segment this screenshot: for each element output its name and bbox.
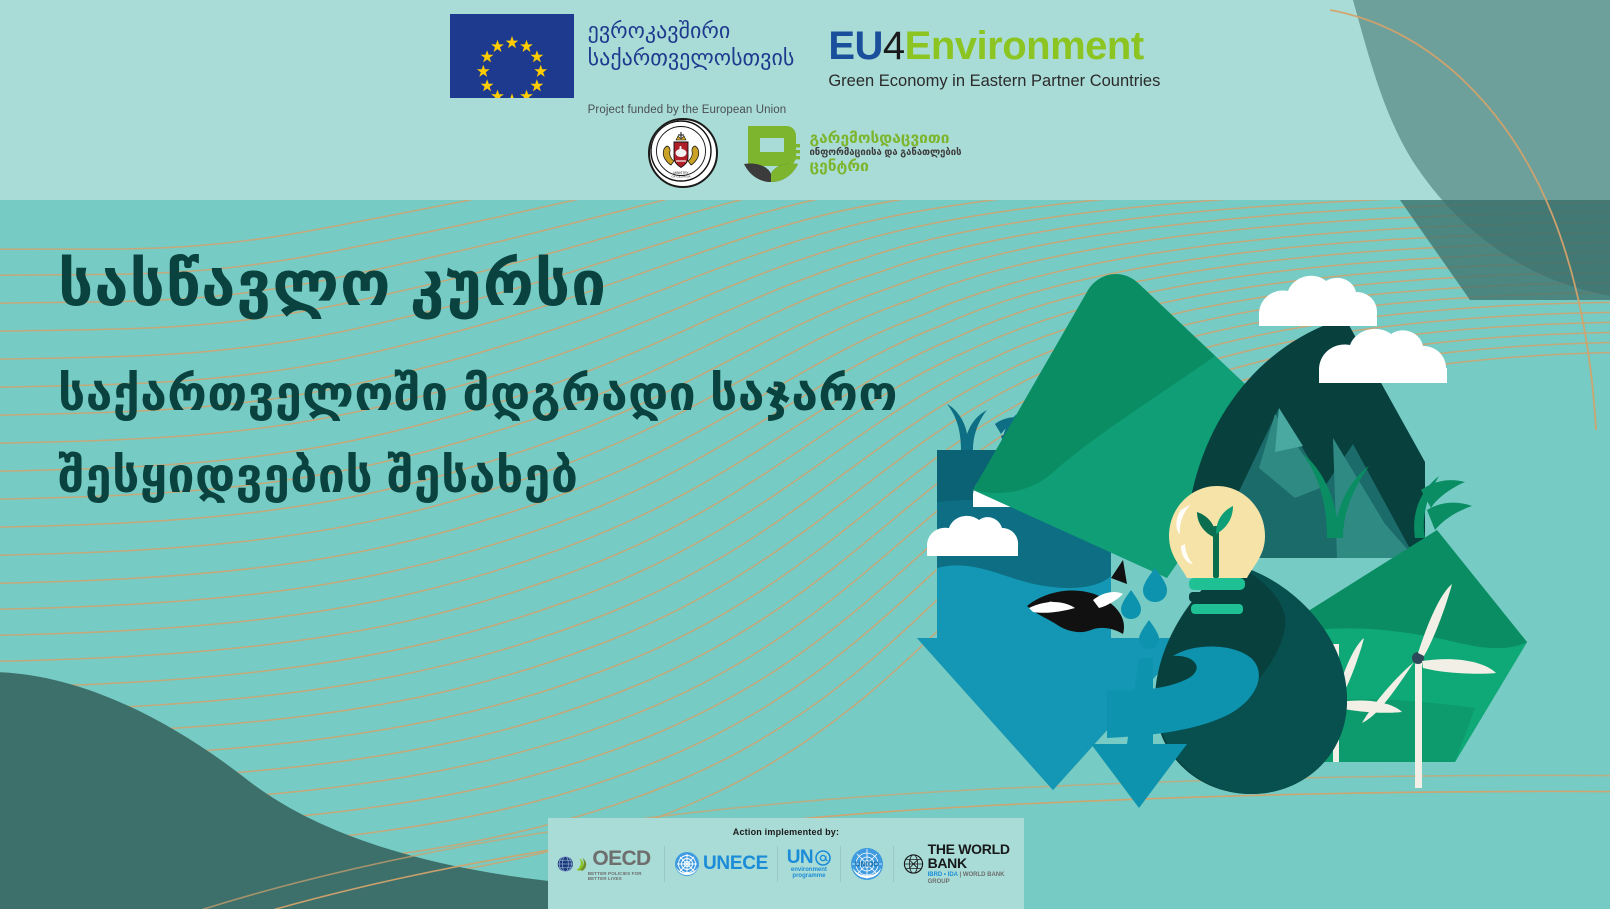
- oecd-tagline: BETTER POLICIES FOR BETTER LIVES: [588, 871, 656, 881]
- e4e-environment-text: Environment: [905, 24, 1144, 68]
- page-subtitle-line1: საქართველოში მდგრადი საჯარო: [58, 361, 898, 429]
- title-block: სასწავლო კურსი საქართველოში მდგრადი საჯა…: [58, 252, 898, 511]
- oecd-globe-icon: [557, 853, 574, 875]
- footer-partners-bar: Action implemented by: OECD BETTER POLIC…: [548, 818, 1024, 909]
- environmental-centre-logo: გარემოსდაცვითი ინფორმაციისა და განათლები…: [740, 122, 961, 184]
- svg-text:OF GEORGIA: OF GEORGIA: [672, 175, 691, 179]
- header: ევროკავშირი საქართველოსთვის Project fund…: [0, 0, 1610, 200]
- ecc-line2: ინფორმაციისა და განათლების: [809, 148, 961, 158]
- e4e-tagline: Green Economy in Eastern Partner Countri…: [828, 72, 1160, 91]
- page-subtitle-line2: შესყიდვების შესახებ: [58, 443, 898, 511]
- eu-flag-icon: [450, 14, 574, 98]
- eu-geo-line2: საქართველოსთვის: [588, 45, 795, 72]
- eu-geo-text: ევროკავშირი საქართველოსთვის: [588, 14, 795, 72]
- oecd-swoosh-icon: [575, 854, 587, 874]
- at-symbol-icon: [815, 850, 831, 866]
- footer-caption: Action implemented by:: [733, 827, 839, 837]
- e4e-eu-text: EU: [828, 24, 883, 68]
- un-environment-sub2: programme: [792, 873, 825, 879]
- government-logo-row: MINISTRY OF GEORGIA გა: [0, 118, 1610, 188]
- e4e-four-text: 4: [883, 24, 905, 68]
- un-environment-logo: UN environment programme: [778, 842, 840, 886]
- world-bank-globe-icon: [903, 849, 924, 879]
- eu4environment-logo: EU4Environment Green Economy in Eastern …: [828, 14, 1160, 91]
- oecd-wordmark: OECD: [592, 848, 650, 869]
- water-droplet-icon: [1121, 568, 1167, 649]
- unido-logo: UNIDO: [841, 842, 893, 886]
- ecc-line3: ცენტრი: [809, 159, 961, 175]
- eu-geo-line1: ევროკავშირი: [588, 18, 795, 45]
- unece-wordmark: UNECE: [703, 853, 768, 875]
- primary-logo-row: ევროკავშირი საქართველოსთვის Project fund…: [0, 14, 1610, 116]
- environmental-centre-icon: [740, 122, 802, 184]
- world-bank-ibrd: IBRD • IDA: [928, 872, 958, 878]
- georgia-coat-of-arms-icon: MINISTRY OF GEORGIA: [648, 118, 718, 188]
- page-title: სასწავლო კურსი: [58, 252, 898, 317]
- recycling-nature-illustration: [855, 238, 1555, 818]
- world-bank-logo: THE WORLD BANK IBRD • IDA | WORLD BANK G…: [894, 842, 1024, 886]
- oecd-logo: OECD BETTER POLICIES FOR BETTER LIVES: [548, 842, 664, 886]
- svg-text:UNIDO: UNIDO: [855, 860, 879, 869]
- ecc-line1: გარემოსდაცვითი: [809, 131, 961, 147]
- poster-canvas: ევროკავშირი საქართველოსთვის Project fund…: [0, 0, 1610, 909]
- unece-logo: UNECE: [665, 842, 777, 886]
- unido-emblem-icon: UNIDO: [850, 847, 884, 881]
- un-environment-wordmark: UN: [787, 849, 813, 867]
- world-bank-wordmark: THE WORLD BANK: [928, 842, 1015, 870]
- eu-funding-note: Project funded by the European Union: [588, 104, 795, 116]
- un-emblem-icon: [674, 851, 700, 877]
- eu-emblem-block: ევროკავშირი საქართველოსთვის Project fund…: [450, 14, 795, 116]
